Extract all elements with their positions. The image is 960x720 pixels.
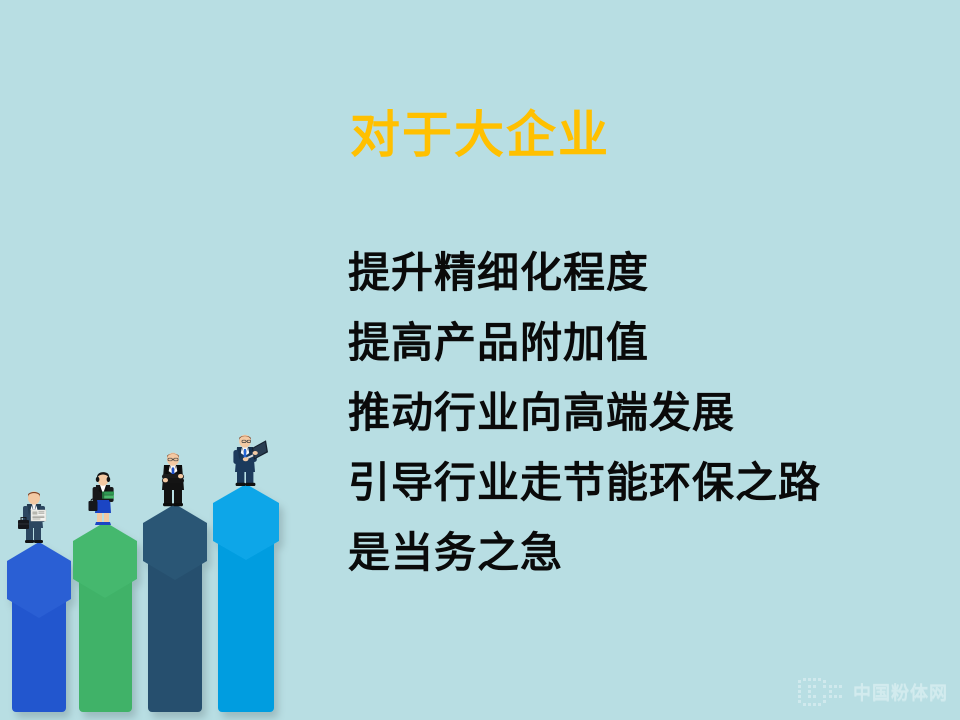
- body-line-5: 是当务之急: [348, 532, 948, 574]
- figure-businessman-with-laptop: [233, 435, 268, 486]
- pillar-3-group: [143, 504, 207, 712]
- body-line-1: 提升精细化程度: [348, 252, 948, 294]
- figure-businessman-with-briefcase: [18, 491, 46, 543]
- figure-businesswoman-with-books: [89, 472, 115, 525]
- cp-pixel-logo-icon: [796, 676, 848, 710]
- figure-businessman-arms-crossed: [162, 453, 184, 507]
- pillar-4-group: [213, 484, 279, 712]
- presentation-slide: 对于大企业 提升精细化程度 提高产品附加值 推动行业向高端发展 引导行业走节能环…: [0, 0, 960, 720]
- pillar-1-group: [7, 542, 71, 712]
- body-line-2: 提高产品附加值: [348, 322, 948, 364]
- slide-body: 提升精细化程度 提高产品附加值 推动行业向高端发展 引导行业走节能环保之路 是当…: [348, 252, 948, 574]
- pillar-2-group: [73, 522, 137, 712]
- watermark-text: 中国粉体网: [853, 684, 948, 702]
- body-line-4: 引导行业走节能环保之路: [348, 462, 948, 504]
- newspaper-prop: [31, 510, 46, 521]
- slide-title: 对于大企业: [0, 108, 960, 163]
- watermark: 中国粉体网: [796, 674, 948, 712]
- businesspeople-illustration: [0, 430, 300, 720]
- body-line-3: 推动行业向高端发展: [348, 392, 948, 434]
